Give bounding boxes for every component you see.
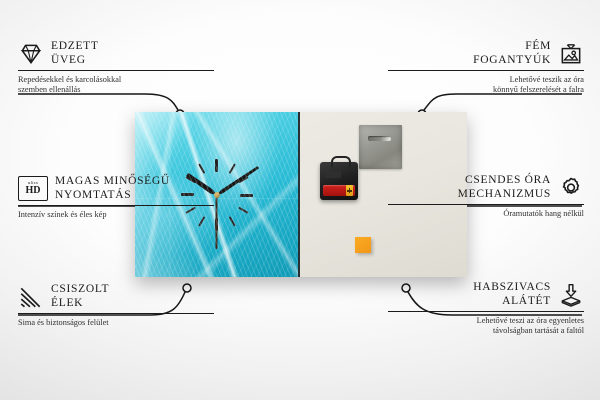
callout-divider [388, 311, 584, 312]
foam-pad [355, 237, 371, 253]
callout-title-line2: ALÁTÉT [502, 295, 551, 307]
clock-center-hub [214, 192, 220, 198]
callout-divider [388, 204, 584, 205]
diamond-icon [18, 41, 44, 67]
callout-desc-line1: Óramutatók hang nélkül [503, 209, 584, 218]
clock-tick [216, 159, 218, 231]
callout-desc-line2: szemben ellenállás [18, 85, 80, 94]
clock-tick [216, 159, 218, 231]
infographic-stage: EDZETTÜVEG Repedésekkel és karcolásokkal… [0, 0, 600, 400]
callout-desc-line2: távolságban tartását a faltól [493, 326, 584, 335]
callout-desc-line1: Sima és biztonságos felület [18, 318, 109, 327]
clock-minute-hand [215, 165, 259, 196]
callout-title-line1: EDZETT [51, 40, 99, 52]
callout-title-line1: FÉM [525, 40, 551, 52]
clock-mechanism-box [320, 162, 358, 200]
gear-icon [558, 175, 584, 201]
callout-silent-mechanism: CSENDES ÓRAMECHANIZMUS Óramutatók hang n… [388, 174, 584, 219]
callout-desc-line1: Intenzív színek és éles kép [18, 210, 106, 219]
callout-title-line1: MAGAS MINŐSÉGŰ [55, 175, 170, 187]
picture-hanger-icon [558, 41, 584, 67]
callout-desc-line1: Lehetővé teszik az óra [510, 75, 584, 84]
callout-title-line2: FOGANTYÚK [473, 54, 551, 66]
callout-metal-handles: FÉMFOGANTYÚK Lehetővé teszik az órakönny… [388, 40, 584, 96]
connector-handles [424, 94, 582, 110]
foam-pad-arrow-icon [558, 282, 584, 308]
callout-title-line2: ÉLEK [51, 297, 83, 309]
hanger-keyhole-slot [368, 136, 391, 141]
ultra-hd-badge-icon: ultra HD [18, 176, 48, 201]
callout-tempered-glass: EDZETTÜVEG Repedésekkel és karcolásokkal… [18, 40, 214, 96]
badge-large-text: HD [26, 186, 41, 196]
callout-title-line1: CSISZOLT [51, 283, 109, 295]
clock-second-hand [216, 195, 218, 249]
callout-title-line1: CSENDES ÓRA [465, 174, 551, 186]
callout-divider [18, 205, 214, 206]
callout-divider [18, 313, 214, 314]
callout-desc-line2: könnyű felszerelését a falra [493, 85, 584, 94]
diagonal-lines-icon [18, 284, 44, 310]
battery [323, 185, 355, 196]
callout-title-line2: NYOMTATÁS [55, 189, 131, 201]
callout-title-line2: MECHANIZMUS [458, 188, 551, 200]
callout-high-quality-print: ultra HD MAGAS MINŐSÉGŰNYOMTATÁS Intenzí… [18, 175, 214, 220]
callout-desc-line1: Lehetővé teszi az óra egyenletes [477, 316, 584, 325]
metal-hanger-plate [359, 125, 402, 169]
connector-tempered-glass [18, 94, 178, 110]
callout-polished-edges: CSISZOLTÉLEK Sima és biztonságos felület [18, 283, 214, 328]
mechanism-hanging-loop [331, 156, 351, 167]
callout-foam-underlay: HABSZIVACSALÁTÉT Lehetővé teszi az óra e… [388, 281, 584, 337]
callout-divider [18, 70, 214, 71]
callout-divider [388, 70, 584, 71]
battery-positive-terminal [346, 185, 353, 196]
callout-desc-line1: Repedésekkel és karcolásokkal [18, 75, 121, 84]
callout-title-line2: ÜVEG [51, 54, 86, 66]
mechanism-shaft [325, 171, 341, 178]
callout-title-line1: HABSZIVACS [473, 281, 551, 293]
